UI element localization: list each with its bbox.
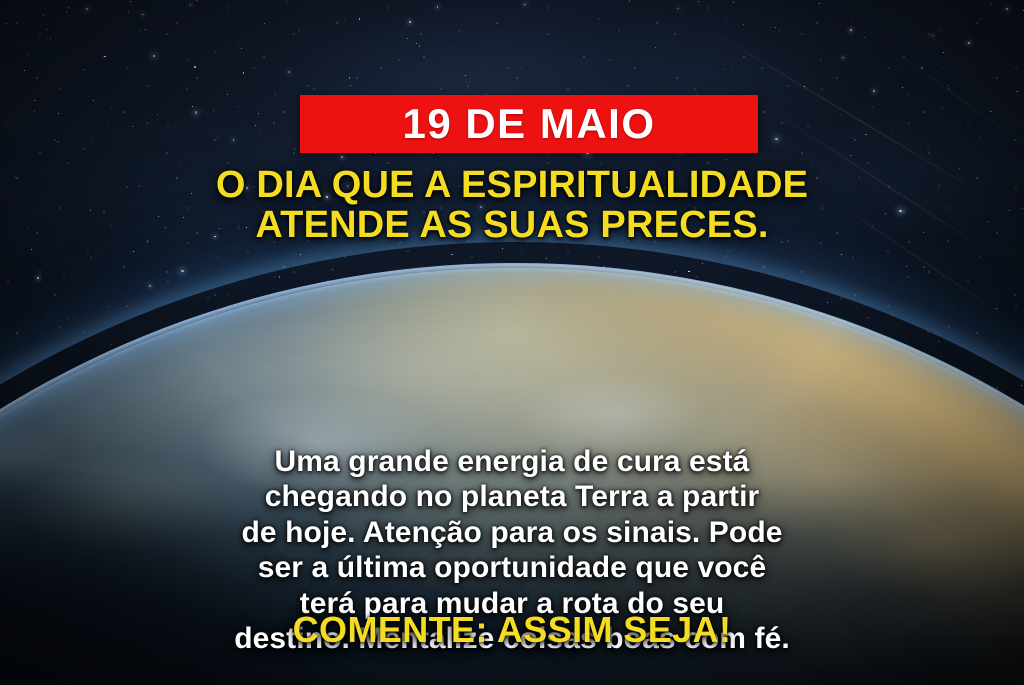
body-line-4: ser a última oportunidade que você [62, 550, 962, 585]
poster-canvas: 19 DE MAIO O DIA QUE A ESPIRITUALIDADE A… [0, 0, 1024, 685]
poster-content: 19 DE MAIO O DIA QUE A ESPIRITUALIDADE A… [0, 0, 1024, 685]
date-banner-label: 19 DE MAIO [402, 103, 655, 145]
headline-line-1: O DIA QUE A ESPIRITUALIDADE [0, 165, 1024, 205]
call-to-action-text: COMENTE: ASSIM SEJA! [0, 612, 1024, 648]
body-line-3: de hoje. Atenção para os sinais. Pode [62, 515, 962, 550]
date-banner: 19 DE MAIO [300, 95, 758, 153]
headline-line-2: ATENDE AS SUAS PRECES. [0, 205, 1024, 245]
body-line-1: Uma grande energia de cura está [62, 444, 962, 479]
headline: O DIA QUE A ESPIRITUALIDADE ATENDE AS SU… [0, 165, 1024, 246]
body-line-2: chegando no planeta Terra a partir [62, 479, 962, 514]
